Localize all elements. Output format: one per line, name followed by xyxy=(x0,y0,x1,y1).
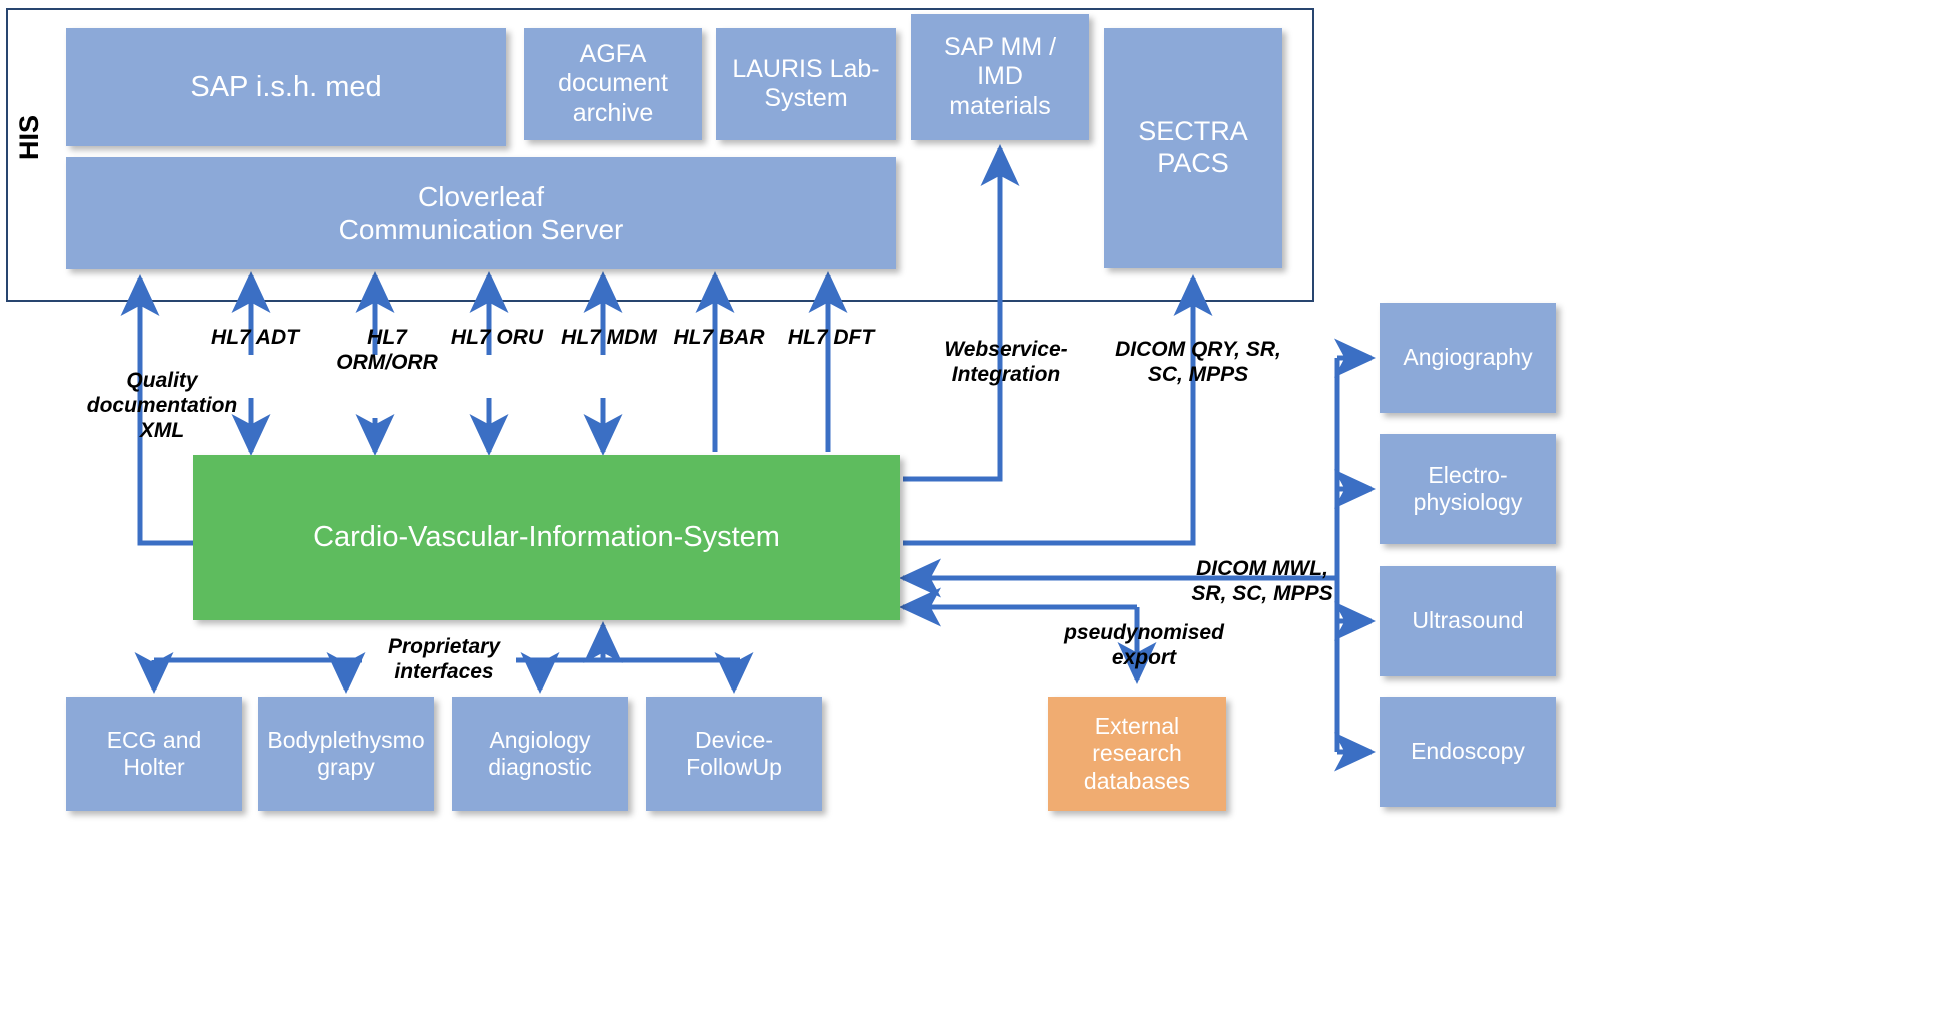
connection-label-dicom-qry: DICOM QRY, SR, SC, MPPS xyxy=(1114,337,1282,387)
diagram-canvas: HIS xyxy=(0,0,1955,1026)
system-box-sectra-pacs: SECTRA PACS xyxy=(1104,28,1282,268)
node-label: Angiography xyxy=(1403,344,1532,371)
modality-box-ultrasound: Ultrasound xyxy=(1380,566,1556,676)
device-box-bodyplethysmo: Bodyplethysmo grapy xyxy=(258,697,434,811)
node-label: Bodyplethysmo grapy xyxy=(267,727,424,781)
system-box-cloverleaf: Cloverleaf Communication Server xyxy=(66,157,896,269)
device-box-angiology-diag: Angiology diagnostic xyxy=(452,697,628,811)
node-label: SAP MM / IMD materials xyxy=(944,33,1056,122)
connection-label-hl7-oru: HL7 ORU xyxy=(432,325,562,350)
his-group-label: HIS xyxy=(14,115,45,160)
node-label: Device- FollowUp xyxy=(686,727,782,781)
node-label: SAP i.s.h. med xyxy=(190,70,381,104)
device-box-ecg-holter: ECG and Holter xyxy=(66,697,242,811)
arrow-dicom-qry xyxy=(903,278,1193,543)
node-label: Cloverleaf Communication Server xyxy=(339,180,624,246)
node-label: Endoscopy xyxy=(1411,738,1525,765)
node-label: ECG and Holter xyxy=(74,727,234,781)
connection-label-hl7-dft: HL7 DFT xyxy=(766,325,896,350)
node-label: AGFA document archive xyxy=(558,40,668,129)
system-box-sap-mm-imd: SAP MM / IMD materials xyxy=(911,14,1089,140)
connection-label-webservice: Webservice- Integration xyxy=(930,337,1082,387)
connection-label-hl7-adt: HL7 ADT xyxy=(190,325,320,350)
system-box-sap-ish-med: SAP i.s.h. med xyxy=(66,28,506,146)
system-box-lauris-lab: LAURIS Lab- System xyxy=(716,28,896,140)
connection-label-hl7-bar: HL7 BAR xyxy=(654,325,784,350)
modality-box-electrophysiology: Electro- physiology xyxy=(1380,434,1556,544)
node-label: Angiology diagnostic xyxy=(488,727,592,781)
node-label: LAURIS Lab- System xyxy=(732,55,879,114)
connection-label-dicom-mwl: DICOM MWL, SR, SC, MPPS xyxy=(1186,556,1338,606)
system-box-agfa-archive: AGFA document archive xyxy=(524,28,702,140)
system-box-cvis: Cardio-Vascular-Information-System xyxy=(193,455,900,620)
node-label: Electro- physiology xyxy=(1414,462,1523,516)
node-label: Cardio-Vascular-Information-System xyxy=(313,520,780,554)
modality-box-angiography: Angiography xyxy=(1380,303,1556,413)
connection-label-pseudonymised: pseudynomised export xyxy=(1060,620,1228,670)
device-box-device-followup: Device- FollowUp xyxy=(646,697,822,811)
node-label: Ultrasound xyxy=(1412,607,1523,634)
connection-label-quality-doc: Quality documentation XML xyxy=(78,368,246,444)
modality-box-endoscopy: Endoscopy xyxy=(1380,697,1556,807)
system-box-external-research-db: External research databases xyxy=(1048,697,1226,811)
node-label: External research databases xyxy=(1084,713,1190,794)
connection-label-proprietary: Proprietary interfaces xyxy=(370,634,518,684)
node-label: SECTRA PACS xyxy=(1138,116,1248,180)
